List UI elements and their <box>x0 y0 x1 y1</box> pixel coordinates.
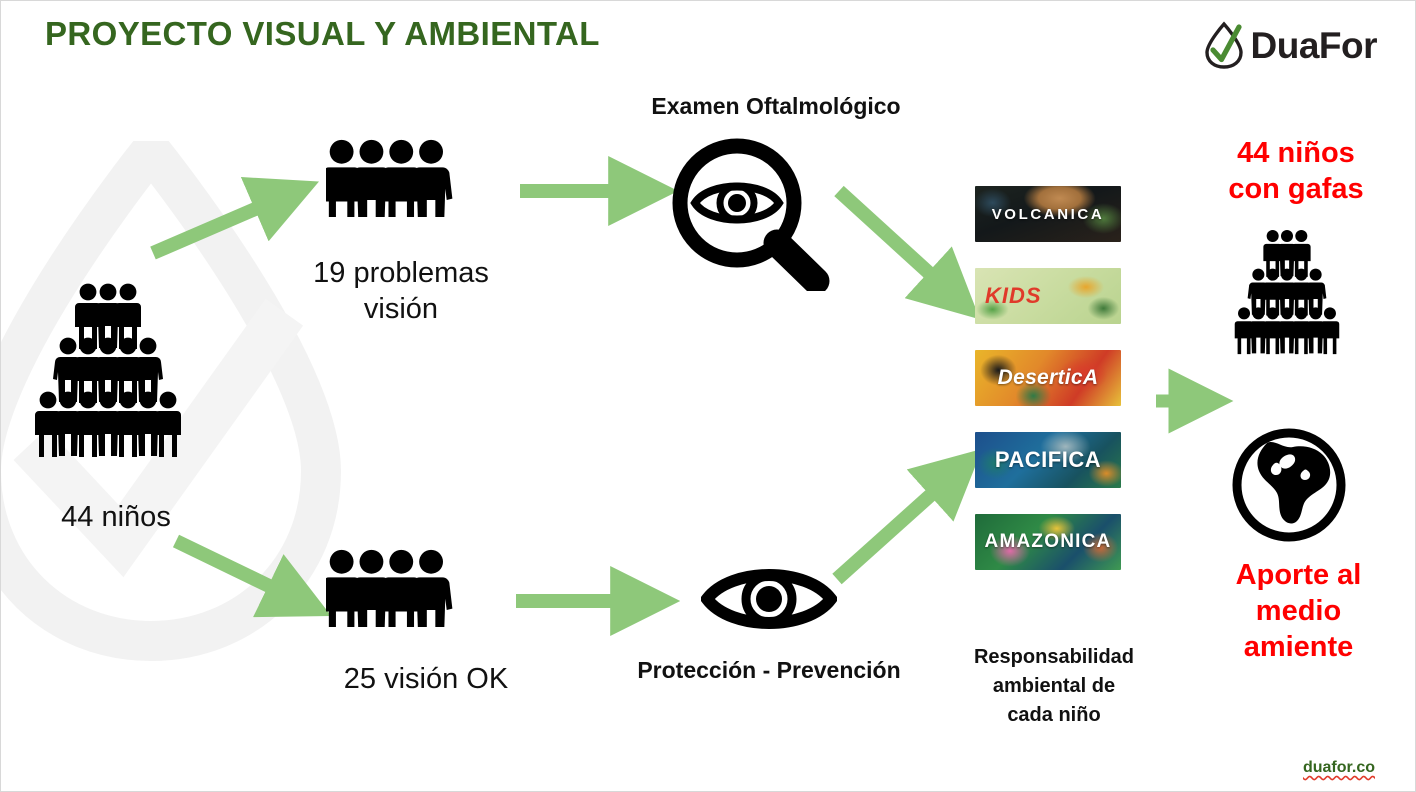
brand-card-label: PACIFICA <box>975 432 1121 488</box>
page-title: PROYECTO VISUAL Y AMBIENTAL <box>45 15 600 53</box>
globe-icon <box>1229 425 1349 545</box>
brand-card-kids[interactable]: KIDS <box>975 268 1121 324</box>
prevention-label: Protección - Prevención <box>609 657 929 683</box>
exam-label: Examen Oftalmológico <box>601 93 951 119</box>
people-pyramid-glasses <box>1229 229 1355 359</box>
slide-canvas: PROYECTO VISUAL Y AMBIENTAL DuaFor <box>0 0 1416 792</box>
brand-card-label: AMAZONICA <box>975 514 1121 570</box>
responsibility-label-line2: ambiental de <box>941 675 1167 698</box>
brand-logo-text: DuaFor <box>1251 27 1378 64</box>
brand-card-label: VOLCANICA <box>975 186 1121 242</box>
brand-card-pacifica[interactable]: PACIFICA <box>975 432 1121 488</box>
start-count-label: 44 niños <box>21 501 211 534</box>
brand-card-desertica[interactable]: DeserticA <box>975 350 1121 406</box>
vision-problem-label-line1: 19 problemas <box>251 257 551 290</box>
brand-cards-list: VOLCANICA KIDS DeserticA PACIFICA AMAZON… <box>975 186 1121 570</box>
people-group-vision-ok <box>326 549 476 627</box>
brand-card-label: KIDS <box>975 268 1121 324</box>
brand-card-label: DeserticA <box>975 350 1121 406</box>
brand-card-volcanica[interactable]: VOLCANICA <box>975 186 1121 242</box>
glasses-result-label-line1: 44 niños <box>1186 137 1406 170</box>
responsibility-label-line3: cada niño <box>941 704 1167 727</box>
environment-label-line2: medio <box>1191 595 1406 628</box>
brand-logo: DuaFor <box>1203 21 1378 69</box>
vision-ok-label: 25 visión OK <box>281 663 571 696</box>
brand-card-amazonica[interactable]: AMAZONICA <box>975 514 1121 570</box>
environment-label-line3: amiente <box>1191 631 1406 664</box>
glasses-result-label-line2: con gafas <box>1186 173 1406 206</box>
droplet-check-icon <box>1203 21 1245 69</box>
environment-label-line1: Aporte al <box>1191 559 1406 592</box>
eye-icon <box>701 559 837 639</box>
vision-problem-label-line2: visión <box>251 293 551 326</box>
responsibility-label-line1: Responsabilidad <box>941 646 1167 669</box>
people-group-vision-problem <box>326 139 476 217</box>
people-pyramid-start <box>27 283 203 463</box>
footer-website-link[interactable]: duafor.co <box>1303 759 1375 777</box>
magnifier-eye-icon <box>661 131 841 291</box>
